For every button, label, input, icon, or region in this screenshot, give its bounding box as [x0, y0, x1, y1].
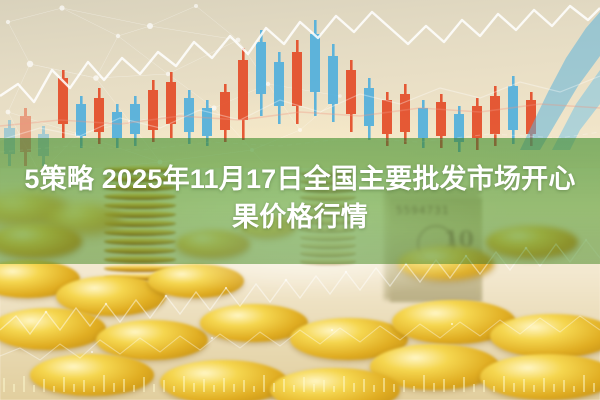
- page-title: 5策略 2025年11月17日全国主要批发市场开心 果价格行情: [0, 160, 600, 236]
- news-banner-image: 5594731 10: [0, 0, 600, 400]
- title-line-2: 果价格行情: [10, 198, 590, 236]
- title-line-1: 5策略 2025年11月17日全国主要批发市场开心: [10, 160, 590, 198]
